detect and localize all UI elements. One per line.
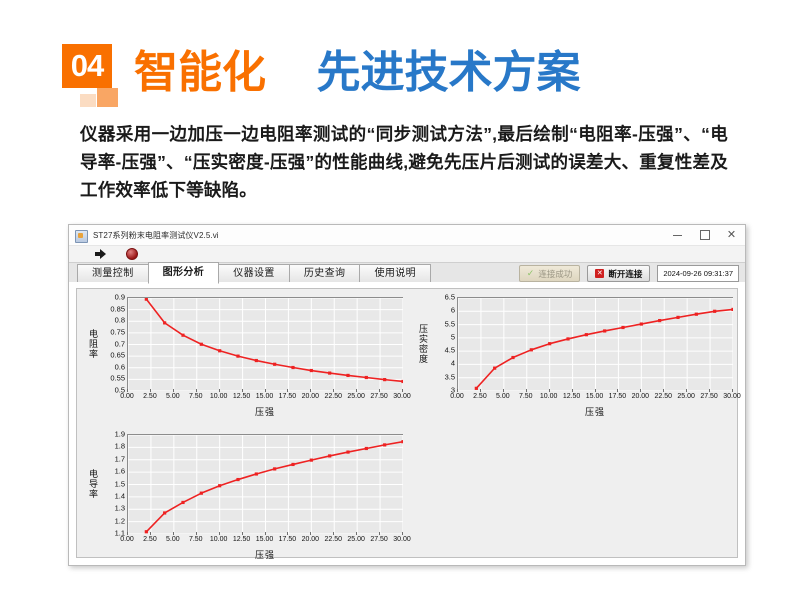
chart-conductivity-xticks: 0.002.505.007.5010.0012.5015.0017.5020.0… [127, 535, 403, 547]
y-tick-label: 6 [451, 306, 455, 315]
x-tick-label: 20.00 [302, 393, 320, 400]
chart-compacted-density-xticks: 0.002.505.007.5010.0012.5015.0017.5020.0… [457, 392, 733, 404]
x-tick-mark [617, 389, 618, 392]
section-number: 04 [62, 44, 112, 88]
chart-resistivity-ylabel: 电阻率 [87, 297, 100, 391]
x-tick-mark [196, 389, 197, 392]
y-tick-label: 5.5 [445, 319, 455, 328]
x-tick-label: 27.50 [370, 536, 388, 543]
timestamp-display: 2024-09-26 09:31:37 [657, 265, 739, 282]
x-tick-mark [640, 389, 641, 392]
x-tick-mark [379, 532, 380, 535]
chart-conductivity-plot[interactable] [127, 434, 403, 534]
tab-history-query[interactable]: 历史查询 [289, 264, 361, 283]
x-tick-label: 0.00 [450, 393, 464, 400]
x-tick-label: 15.00 [256, 393, 274, 400]
x-tick-mark [265, 389, 266, 392]
x-tick-label: 20.00 [632, 393, 650, 400]
y-tick-label: 1.4 [115, 491, 125, 500]
decor-square-small [80, 94, 96, 107]
x-tick-mark [663, 389, 664, 392]
x-tick-mark [173, 532, 174, 535]
x-tick-mark [503, 389, 504, 392]
chart-compacted-density-yticks: 6.565.554.543.53 [430, 297, 455, 391]
x-tick-mark [402, 532, 403, 535]
chart-resistivity-plot[interactable] [127, 297, 403, 391]
x-tick-label: 12.50 [233, 536, 251, 543]
window-content: 电阻率 0.90.850.80.750.70.650.60.550.5 0.00… [69, 282, 745, 565]
y-tick-label: 0.65 [110, 351, 125, 360]
x-tick-mark [127, 389, 128, 392]
tab-instrument-settings[interactable]: 仪器设置 [218, 264, 290, 283]
application-window: ST27系列粉末电阻率测试仪V2.5.vi ✕ 测量控制 图形分析 仪器设置 历… [68, 224, 746, 566]
x-tick-label: 7.50 [519, 393, 533, 400]
x-tick-label: 7.50 [189, 536, 203, 543]
chart-resistivity[interactable]: 电阻率 0.90.850.80.750.70.650.60.550.5 0.00… [87, 297, 405, 417]
x-tick-mark [732, 389, 733, 392]
x-tick-mark [219, 389, 220, 392]
x-tick-mark [150, 532, 151, 535]
y-tick-label: 1.6 [115, 467, 125, 476]
connection-success-label: 连接成功 [538, 268, 572, 280]
x-tick-label: 27.50 [370, 393, 388, 400]
minimize-button[interactable] [664, 225, 691, 245]
x-tick-mark [310, 389, 311, 392]
x-tick-label: 30.00 [393, 536, 411, 543]
x-tick-label: 22.50 [324, 393, 342, 400]
status-button-group: ✓ 连接成功 ✕ 断开连接 2024-09-26 09:31:37 [519, 265, 745, 283]
chart-conductivity-yticks: 1.91.81.71.61.51.41.31.21.1 [100, 434, 125, 534]
x-tick-label: 10.00 [210, 393, 228, 400]
x-tick-label: 25.00 [677, 393, 695, 400]
chart-compacted-density-xlabel: 压强 [457, 405, 733, 418]
decor-square-large [97, 88, 118, 107]
x-tick-label: 0.00 [120, 536, 134, 543]
y-tick-label: 0.85 [110, 304, 125, 313]
x-tick-label: 12.50 [563, 393, 581, 400]
y-tick-label: 4.5 [445, 346, 455, 355]
x-tick-label: 17.50 [609, 393, 627, 400]
y-tick-label: 5 [451, 332, 455, 341]
y-tick-label: 0.75 [110, 327, 125, 336]
tab-graph-analysis[interactable]: 图形分析 [148, 262, 220, 284]
x-tick-mark [526, 389, 527, 392]
x-tick-mark [150, 389, 151, 392]
x-tick-label: 20.00 [302, 536, 320, 543]
x-tick-label: 2.50 [143, 536, 157, 543]
x-icon: ✕ [595, 269, 604, 278]
graph-analysis-panel: 电阻率 0.90.850.80.750.70.650.60.550.5 0.00… [76, 288, 738, 558]
chart-resistivity-yticks: 0.90.850.80.750.70.650.60.550.5 [100, 297, 125, 391]
x-tick-label: 10.00 [540, 393, 558, 400]
y-tick-label: 0.7 [115, 339, 125, 348]
x-tick-mark [686, 389, 687, 392]
x-tick-label: 25.00 [347, 393, 365, 400]
page-title: 智能化 先进技术方案 [134, 40, 580, 106]
page-title-part2: 先进技术方案 [316, 48, 580, 97]
tab-instructions[interactable]: 使用说明 [359, 264, 431, 283]
tab-bar: 测量控制 图形分析 仪器设置 历史查询 使用说明 ✓ 连接成功 ✕ 断开连接 2… [69, 263, 745, 284]
y-tick-label: 4 [451, 359, 455, 368]
x-tick-label: 5.00 [496, 393, 510, 400]
x-tick-label: 30.00 [723, 393, 741, 400]
labview-vi-icon [75, 229, 88, 242]
chart-conductivity-ylabel: 电导率 [87, 434, 100, 534]
x-tick-label: 17.50 [279, 536, 297, 543]
chart-compacted-density-plot[interactable] [457, 297, 733, 391]
maximize-button[interactable] [691, 225, 718, 245]
x-tick-mark [572, 389, 573, 392]
x-tick-mark [242, 389, 243, 392]
x-tick-label: 15.00 [586, 393, 604, 400]
window-title-bar: ST27系列粉末电阻率测试仪V2.5.vi ✕ [69, 225, 745, 246]
x-tick-mark [480, 389, 481, 392]
x-tick-label: 22.50 [324, 536, 342, 543]
x-tick-label: 7.50 [189, 393, 203, 400]
y-tick-label: 1.5 [115, 479, 125, 488]
y-tick-label: 0.9 [115, 293, 125, 302]
chart-conductivity[interactable]: 电导率 1.91.81.71.61.51.41.31.21.1 0.002.50… [87, 434, 405, 560]
y-tick-label: 1.8 [115, 442, 125, 451]
x-tick-mark [709, 389, 710, 392]
slide-page: 04 智能化 先进技术方案 仪器采用一边加压一边电阻率测试的“同步测试方法”,最… [0, 0, 800, 592]
x-tick-mark [457, 389, 458, 392]
x-tick-mark [356, 389, 357, 392]
disconnect-button[interactable]: ✕ 断开连接 [587, 265, 650, 282]
x-tick-label: 25.00 [347, 536, 365, 543]
close-icon[interactable]: ✕ [718, 225, 745, 245]
x-tick-label: 5.00 [166, 536, 180, 543]
x-tick-mark [356, 532, 357, 535]
x-tick-mark [287, 532, 288, 535]
section-badge: 04 [62, 44, 134, 108]
x-tick-mark [333, 532, 334, 535]
chart-compacted-density-ylabel: 压实密度 [417, 297, 430, 391]
x-tick-label: 27.50 [700, 393, 718, 400]
page-title-part1: 智能化 [134, 48, 266, 97]
x-tick-mark [173, 389, 174, 392]
body-paragraph: 仪器采用一边加压一边电阻率测试的“同步测试方法”,最后绘制“电阻率-压强”、“电… [80, 120, 728, 204]
y-tick-label: 1.9 [115, 430, 125, 439]
vi-toolbar [69, 246, 745, 263]
x-tick-label: 15.00 [256, 536, 274, 543]
x-tick-mark [310, 532, 311, 535]
disconnect-label: 断开连接 [608, 268, 642, 280]
y-tick-label: 1.3 [115, 504, 125, 513]
y-tick-label: 1.7 [115, 454, 125, 463]
x-tick-mark [549, 389, 550, 392]
window-controls: ✕ [664, 225, 745, 245]
x-tick-mark [595, 389, 596, 392]
y-tick-label: 0.8 [115, 316, 125, 325]
x-tick-label: 2.50 [473, 393, 487, 400]
x-tick-mark [265, 532, 266, 535]
x-tick-label: 17.50 [279, 393, 297, 400]
x-tick-label: 0.00 [120, 393, 134, 400]
tab-measurement-control[interactable]: 测量控制 [77, 264, 149, 283]
x-tick-mark [127, 532, 128, 535]
x-tick-label: 2.50 [143, 393, 157, 400]
x-tick-mark [196, 532, 197, 535]
chart-compacted-density[interactable]: 压实密度 6.565.554.543.53 0.002.505.007.5010… [417, 297, 735, 417]
x-tick-label: 30.00 [393, 393, 411, 400]
x-tick-mark [242, 532, 243, 535]
window-title: ST27系列粉末电阻率测试仪V2.5.vi [93, 230, 219, 241]
run-arrow-icon[interactable] [95, 249, 106, 259]
x-tick-label: 10.00 [210, 536, 228, 543]
chart-conductivity-xlabel: 压强 [127, 548, 403, 561]
chart-resistivity-xlabel: 压强 [127, 405, 403, 418]
connection-success-button[interactable]: ✓ 连接成功 [519, 265, 581, 282]
x-tick-mark [219, 532, 220, 535]
y-tick-label: 6.5 [445, 293, 455, 302]
chart-resistivity-xticks: 0.002.505.007.5010.0012.5015.0017.5020.0… [127, 392, 403, 404]
x-tick-label: 12.50 [233, 393, 251, 400]
x-tick-mark [333, 389, 334, 392]
x-tick-mark [379, 389, 380, 392]
x-tick-label: 5.00 [166, 393, 180, 400]
y-tick-label: 0.6 [115, 362, 125, 371]
y-tick-label: 3.5 [445, 372, 455, 381]
stop-button-icon[interactable] [126, 248, 138, 260]
x-tick-mark [287, 389, 288, 392]
y-tick-label: 1.2 [115, 516, 125, 525]
x-tick-mark [402, 389, 403, 392]
check-icon: ✓ [527, 268, 535, 279]
y-tick-label: 0.55 [110, 374, 125, 383]
x-tick-label: 22.50 [654, 393, 672, 400]
